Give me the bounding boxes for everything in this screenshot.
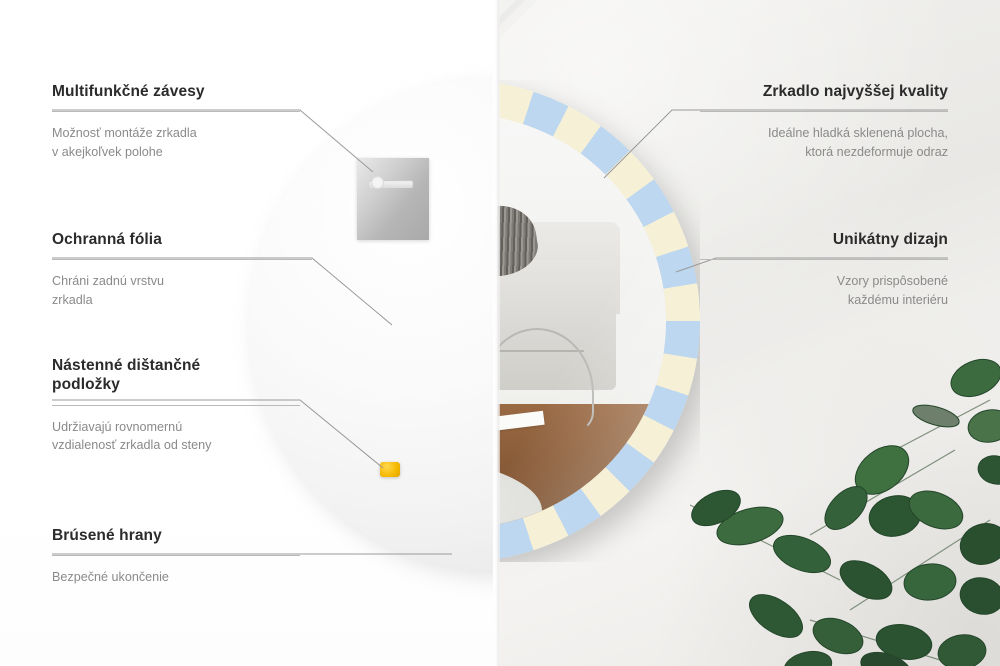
hanger-hole (371, 176, 384, 189)
callout-body: Chráni zadnú vrstvu zrkadla (52, 272, 312, 309)
callout-multifunkcne-zavesy: Multifunkčné závesy Možnosť montáže zrka… (52, 82, 300, 161)
infographic-canvas: Multifunkčné závesy Možnosť montáže zrka… (0, 0, 1000, 666)
mirror-decorative-frame (497, 80, 700, 562)
callout-title: Zrkadlo najvyššej kvality (700, 82, 948, 101)
callout-rule (52, 259, 312, 260)
callout-unikatny-dizajn: Unikátny dizajn Vzory prispôsobené každé… (700, 230, 948, 309)
callout-zrkadlo-najvyssej-kvality: Zrkadlo najvyššej kvality Ideálne hladká… (700, 82, 948, 161)
callout-title: Multifunkčné závesy (52, 82, 300, 101)
hanger-plate-icon (357, 158, 429, 240)
callout-body: Udržiavajú rovnomernú vzdialenosť zrkadl… (52, 418, 300, 455)
callout-brusene-hrany: Brúsené hrany Bezpečné ukončenie (52, 526, 300, 587)
callout-title: Brúsené hrany (52, 526, 300, 545)
callout-title: Unikátny dizajn (700, 230, 948, 249)
callout-body: Možnosť montáže zrkadla v akejkoľvek pol… (52, 124, 300, 161)
callout-title: Nástenné dištančné podložky (52, 356, 300, 395)
callout-ochranna-folia: Ochranná fólia Chráni zadnú vrstvu zrkad… (52, 230, 312, 309)
callout-body: Bezpečné ukončenie (52, 568, 300, 586)
callout-title: Ochranná fólia (52, 230, 312, 249)
callout-rule (52, 405, 300, 406)
panel-seam-divider (493, 0, 500, 666)
wall-spacer-pad-icon (380, 462, 400, 477)
callout-rule (700, 259, 948, 260)
mirror-glass-surface (497, 114, 666, 528)
callout-rule (52, 555, 300, 556)
callout-body: Vzory prispôsobené každému interiéru (700, 272, 948, 309)
mirror-front-clip (497, 80, 700, 562)
callout-nastenne-distancne-podlozky: Nástenné dištančné podložky Udržiavajú r… (52, 356, 300, 454)
callout-body: Ideálne hladká sklenená plocha, ktorá ne… (700, 124, 948, 161)
callout-rule (700, 111, 948, 112)
callout-rule (52, 111, 300, 112)
